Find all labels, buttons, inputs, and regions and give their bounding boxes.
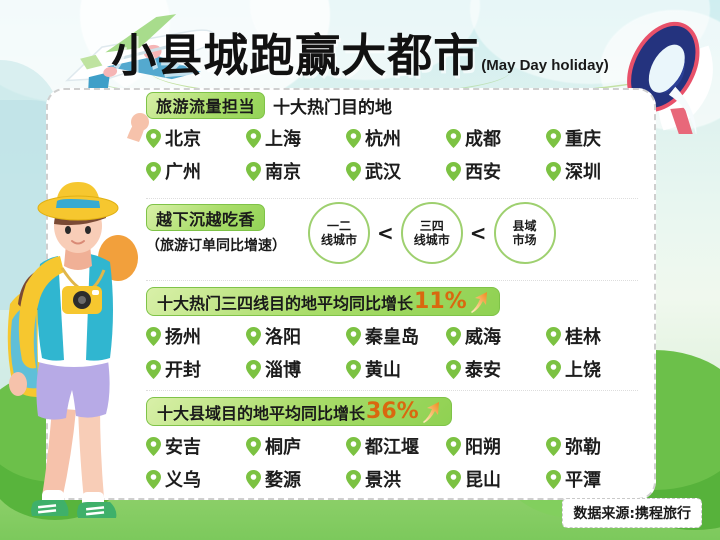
map-pin-icon — [246, 162, 261, 181]
city-item[interactable]: 南京 — [246, 158, 346, 184]
card-content: 旅游流量担当 十大热门目的地 北京 上海 杭州 成都 — [146, 92, 646, 496]
city-label: 杭州 — [363, 125, 403, 151]
section-divider — [146, 280, 638, 281]
city-item[interactable]: 安吉 — [146, 433, 246, 459]
city-label: 景洪 — [363, 466, 403, 492]
tier-circles: 一二 线城市 < 三四 线城市 < 县域 市场 — [308, 202, 556, 264]
city-item[interactable]: 杭州 — [346, 125, 446, 151]
city-item[interactable]: 北京 — [146, 125, 246, 151]
city-label: 成都 — [463, 125, 503, 151]
section-badge: 越下沉越吃香 — [146, 204, 265, 231]
city-item[interactable]: 秦皇岛 — [346, 323, 446, 349]
tier-line1: 一二 — [327, 219, 351, 233]
tier-line2: 市场 — [513, 233, 537, 247]
map-pin-icon — [346, 470, 361, 489]
city-label: 婺源 — [263, 466, 303, 492]
city-item[interactable]: 扬州 — [146, 323, 246, 349]
city-label: 上饶 — [563, 356, 603, 382]
city-label: 弥勒 — [563, 433, 603, 459]
map-pin-icon — [346, 437, 361, 456]
tier-line2: 线城市 — [321, 233, 357, 247]
map-pin-icon — [146, 470, 161, 489]
section-note: （旅游订单同比增速） — [146, 235, 298, 255]
city-item[interactable]: 平潭 — [546, 466, 646, 492]
data-source-label: 数据来源:携程旅行 — [562, 498, 702, 528]
city-label: 桂林 — [563, 323, 603, 349]
map-pin-icon — [546, 129, 561, 148]
map-pin-icon — [146, 437, 161, 456]
city-label: 都江堰 — [363, 433, 421, 459]
map-pin-icon — [346, 129, 361, 148]
less-than-operator: < — [470, 221, 487, 245]
city-item[interactable]: 弥勒 — [546, 433, 646, 459]
city-label: 重庆 — [563, 125, 603, 151]
growth-banner: 十大县域目的地平均同比增长 36% — [146, 397, 452, 426]
map-pin-icon — [446, 360, 461, 379]
tier-line1: 县域 — [513, 219, 537, 233]
map-pin-icon — [446, 437, 461, 456]
city-label: 上海 — [263, 125, 303, 151]
city-item[interactable]: 昆山 — [446, 466, 546, 492]
city-label: 扬州 — [163, 323, 203, 349]
section-badge: 旅游流量担当 — [146, 92, 265, 119]
city-label: 义乌 — [163, 466, 203, 492]
section-popular-destinations: 旅游流量担当 十大热门目的地 北京 上海 杭州 成都 — [146, 92, 646, 184]
city-item[interactable]: 西安 — [446, 158, 546, 184]
map-pin-icon — [346, 327, 361, 346]
banner-label: 十大热门三四线目的地平均同比增长 — [157, 290, 413, 314]
tier-circle-1[interactable]: 一二 线城市 — [308, 202, 370, 264]
section-county-growth: 十大县域目的地平均同比增长 36% 安吉 桐庐 都江堰 — [146, 397, 646, 492]
city-label: 北京 — [163, 125, 203, 151]
city-item[interactable]: 成都 — [446, 125, 546, 151]
city-label: 阳朔 — [463, 433, 503, 459]
city-label: 南京 — [263, 158, 303, 184]
map-pin-icon — [246, 129, 261, 148]
city-grid: 北京 上海 杭州 成都 重庆 — [146, 125, 646, 184]
traveler-illustration — [0, 108, 150, 528]
city-label: 深圳 — [563, 158, 603, 184]
map-pin-icon — [146, 129, 161, 148]
city-label: 桐庐 — [263, 433, 303, 459]
map-pin-icon — [246, 360, 261, 379]
city-grid: 扬州 洛阳 秦皇岛 威海 桂林 — [146, 323, 646, 382]
city-label: 平潭 — [563, 466, 603, 492]
banner-label: 十大县域目的地平均同比增长 — [157, 400, 365, 424]
city-label: 开封 — [163, 356, 203, 382]
city-label: 安吉 — [163, 433, 203, 459]
city-label: 武汉 — [363, 158, 403, 184]
tier-line2: 线城市 — [414, 233, 450, 247]
section-tier34-growth: 十大热门三四线目的地平均同比增长 11% 扬州 洛阳 秦皇岛 — [146, 287, 646, 382]
city-item[interactable]: 婺源 — [246, 466, 346, 492]
city-item[interactable]: 开封 — [146, 356, 246, 382]
section-divider — [146, 390, 638, 391]
city-label: 西安 — [463, 158, 503, 184]
city-item[interactable]: 重庆 — [546, 125, 646, 151]
map-pin-icon — [546, 470, 561, 489]
city-label: 广州 — [163, 158, 203, 184]
city-item[interactable]: 阳朔 — [446, 433, 546, 459]
map-pin-icon — [246, 470, 261, 489]
city-item[interactable]: 桐庐 — [246, 433, 346, 459]
city-item[interactable]: 广州 — [146, 158, 246, 184]
tier-circle-3[interactable]: 县域 市场 — [494, 202, 556, 264]
map-pin-icon — [146, 327, 161, 346]
city-item[interactable]: 上海 — [246, 125, 346, 151]
city-item[interactable]: 黄山 — [346, 356, 446, 382]
city-item[interactable]: 上饶 — [546, 356, 646, 382]
city-item[interactable]: 义乌 — [146, 466, 246, 492]
map-pin-icon — [346, 162, 361, 181]
city-label: 黄山 — [363, 356, 403, 382]
city-item[interactable]: 深圳 — [546, 158, 646, 184]
arrow-up-icon — [469, 291, 489, 313]
city-label: 秦皇岛 — [363, 323, 421, 349]
map-pin-icon — [146, 162, 161, 181]
section-header: 旅游流量担当 十大热门目的地 — [146, 92, 646, 118]
city-label: 洛阳 — [263, 323, 303, 349]
city-label: 威海 — [463, 323, 503, 349]
map-pin-icon — [546, 162, 561, 181]
comparison-row: 越下沉越吃香 （旅游订单同比增速） 一二 线城市 < 三四 线城市 < 县 — [146, 204, 646, 264]
city-item[interactable]: 泰安 — [446, 356, 546, 382]
less-than-operator: < — [377, 221, 394, 245]
city-grid: 安吉 桐庐 都江堰 阳朔 弥勒 — [146, 433, 646, 492]
city-item[interactable]: 洛阳 — [246, 323, 346, 349]
map-pin-icon — [546, 437, 561, 456]
growth-percent: 11% — [414, 291, 467, 313]
infographic-stage: 小县城跑赢大都市 (May Day holiday) — [0, 0, 720, 540]
map-pin-icon — [146, 360, 161, 379]
tier-circle-2[interactable]: 三四 线城市 — [401, 202, 463, 264]
section-tier-comparison: 越下沉越吃香 （旅游订单同比增速） 一二 线城市 < 三四 线城市 < 县 — [146, 204, 646, 264]
map-pin-icon — [446, 470, 461, 489]
city-label: 泰安 — [463, 356, 503, 382]
map-pin-icon — [246, 327, 261, 346]
map-pin-icon — [446, 327, 461, 346]
map-pin-icon — [246, 437, 261, 456]
map-pin-icon — [446, 129, 461, 148]
map-pin-icon — [546, 360, 561, 379]
arrow-up-icon — [421, 401, 441, 423]
section-divider — [146, 198, 638, 199]
tier-line1: 三四 — [420, 219, 444, 233]
city-label: 昆山 — [463, 466, 503, 492]
city-item[interactable]: 桂林 — [546, 323, 646, 349]
map-pin-icon — [546, 327, 561, 346]
map-pin-icon — [446, 162, 461, 181]
city-item[interactable]: 都江堰 — [346, 433, 446, 459]
map-pin-icon — [346, 360, 361, 379]
comparison-label-block: 越下沉越吃香 （旅游订单同比增速） — [146, 204, 298, 255]
city-item[interactable]: 淄博 — [246, 356, 346, 382]
city-label: 淄博 — [263, 356, 303, 382]
city-item[interactable]: 武汉 — [346, 158, 446, 184]
city-item[interactable]: 景洪 — [346, 466, 446, 492]
section-title: 十大热门目的地 — [273, 93, 392, 118]
growth-banner: 十大热门三四线目的地平均同比增长 11% — [146, 287, 500, 316]
city-item[interactable]: 威海 — [446, 323, 546, 349]
growth-percent: 36% — [366, 401, 419, 423]
